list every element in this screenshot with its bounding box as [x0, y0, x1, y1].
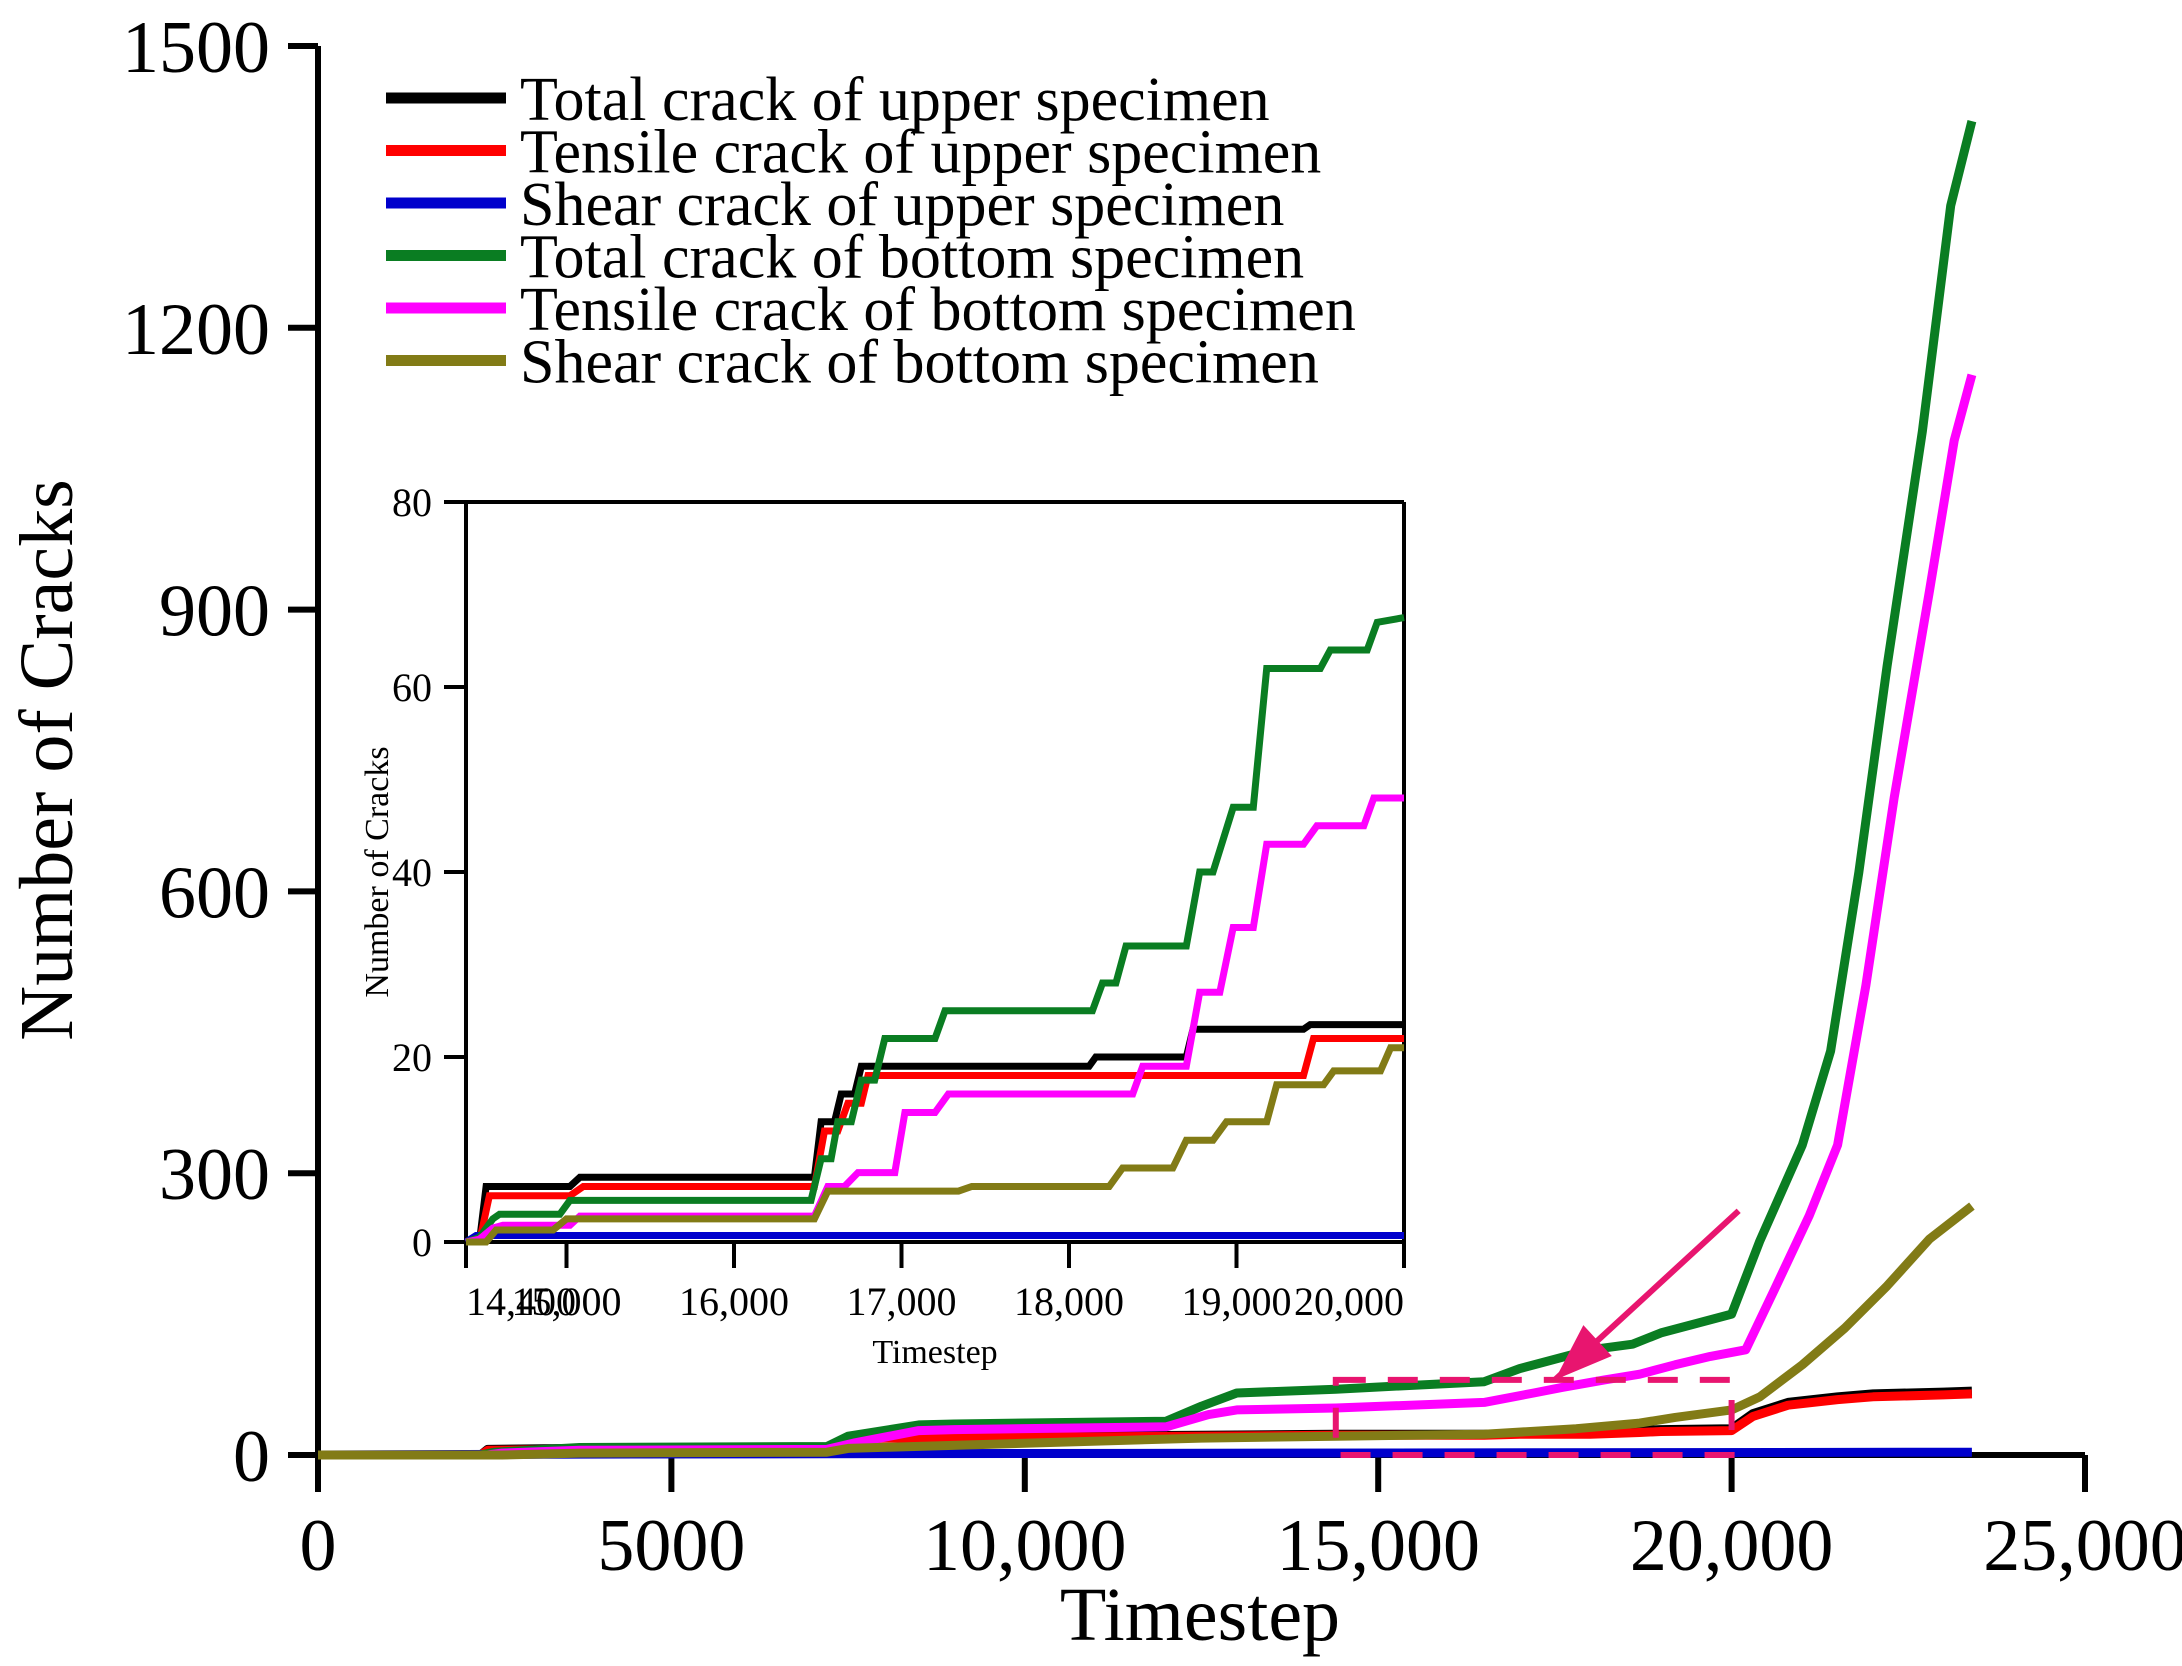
main-y-axis-title: Number of Cracks: [5, 479, 89, 1040]
inset-y-tick-label: 0: [412, 1220, 432, 1265]
inset-x-tick-label: 15,000: [512, 1279, 622, 1324]
inset-y-axis-title: Number of Cracks: [359, 746, 396, 997]
inset-x-ticks: 14,40015,00016,00017,00018,00019,00020,0…: [466, 1242, 1404, 1324]
inset-chart: 020406080 14,40015,00016,00017,00018,000…: [359, 480, 1404, 1371]
main-x-axis-title: Timestep: [1060, 1573, 1340, 1657]
main-y-tick-label: 300: [159, 1134, 270, 1216]
main-x-tick-label: 20,000: [1630, 1505, 1834, 1587]
inset-y-ticks: 020406080: [392, 480, 466, 1265]
main-y-ticks: 030060090012001500: [122, 7, 318, 1498]
inset-y-tick-label: 40: [392, 850, 432, 895]
inset-x-tick-label: 17,000: [847, 1279, 957, 1324]
inset-x-tick-label: 16,000: [679, 1279, 789, 1324]
main-y-tick-label: 0: [233, 1416, 270, 1498]
main-x-tick-label: 0: [300, 1505, 337, 1587]
inset-y-tick-label: 20: [392, 1035, 432, 1080]
inset-x-tick-label: 20,000: [1294, 1279, 1404, 1324]
inset-y-tick-label: 80: [392, 480, 432, 525]
main-y-tick-label: 900: [159, 571, 270, 653]
main-x-ticks: 0500010,00015,00020,00025,000: [300, 1455, 2182, 1587]
figure-root: 030060090012001500 0500010,00015,00020,0…: [0, 0, 2182, 1666]
main-y-tick-label: 600: [159, 852, 270, 934]
legend-label: Shear crack of bottom specimen: [520, 329, 1319, 397]
legend: Total crack of upper specimenTensile cra…: [386, 66, 1356, 397]
main-y-tick-label: 1500: [122, 7, 270, 89]
crack-count-chart: 030060090012001500 0500010,00015,00020,0…: [0, 0, 2182, 1666]
main-x-tick-label: 25,000: [1983, 1505, 2182, 1587]
inset-x-axis-title: Timestep: [872, 1334, 997, 1371]
inset-y-tick-label: 60: [392, 665, 432, 710]
inset-x-tick-label: 19,000: [1182, 1279, 1292, 1324]
inset-x-tick-label: 18,000: [1014, 1279, 1124, 1324]
main-y-tick-label: 1200: [122, 289, 270, 371]
main-x-tick-label: 5000: [597, 1505, 745, 1587]
